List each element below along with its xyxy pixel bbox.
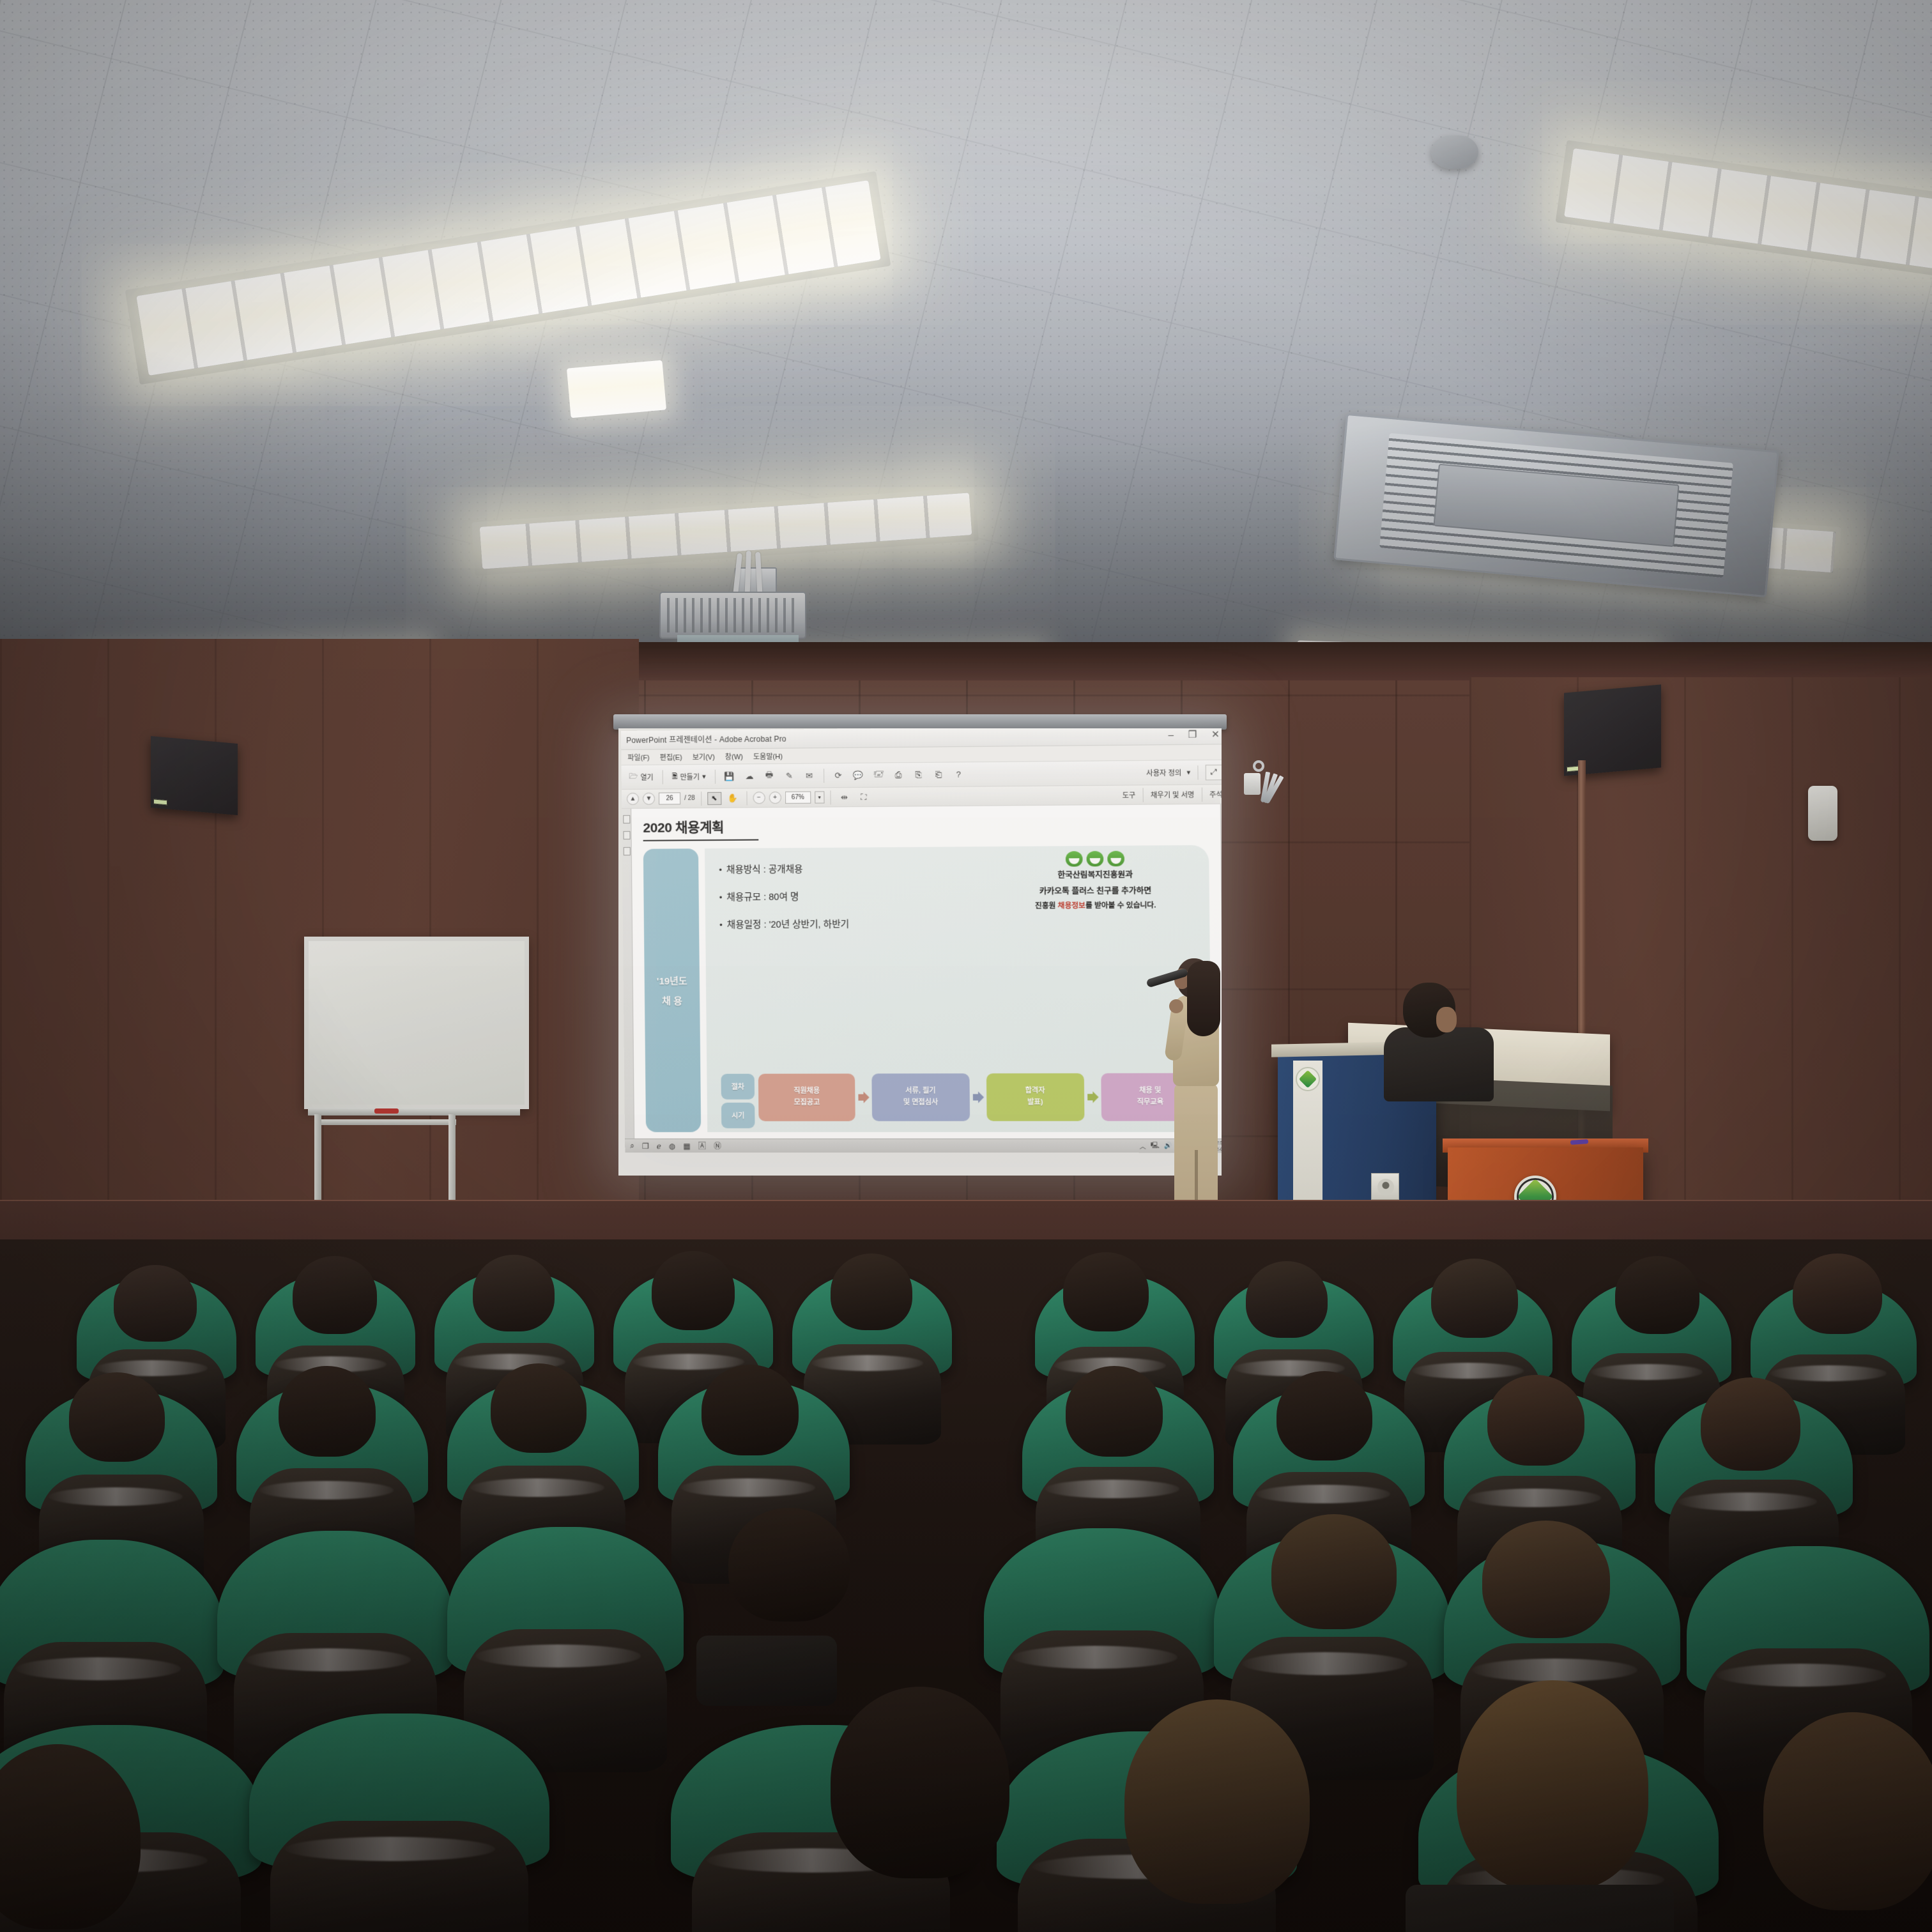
save-icon[interactable]: 💾 (722, 769, 737, 783)
audience-head (293, 1256, 377, 1334)
projection-screen-housing (613, 714, 1227, 730)
slide-bullet-3: • 채용일정 : '20년 상반기, 하반기 (719, 915, 1198, 931)
audience-head (1276, 1371, 1372, 1460)
draped-coat (1406, 1885, 1674, 1932)
audience-head (1063, 1252, 1149, 1331)
audience-seating (0, 1239, 1932, 1932)
close-button[interactable]: ✕ (1211, 730, 1220, 739)
kakao-line-2: 카카오톡 플러스 친구를 추가하면 (991, 884, 1200, 897)
menu-item-window[interactable]: 창(W) (725, 751, 743, 762)
flow-step-2-line-2: 및 면접심사 (903, 1099, 939, 1108)
page-total-label: / 28 (684, 795, 695, 802)
audience-head (831, 1687, 1009, 1878)
create-button[interactable]: 🗎 만들기 ▾ (670, 770, 709, 783)
flow-step-2-line-1: 서류, 필기 (905, 1087, 935, 1096)
slide-content-card: 한국산림복지진흥원과 카카오톡 플러스 친구를 추가하면 진흥원 채용정보를 받… (705, 845, 1211, 1132)
fit-width-icon[interactable]: ⇹ (836, 790, 852, 804)
zoom-level-input[interactable]: 67% (785, 792, 811, 804)
page-extract-icon[interactable]: ⎘ (910, 767, 926, 781)
flow-step-list: 직원채용 모집공고 서류, 필기 및 면접심사 (758, 1073, 1200, 1121)
wall-speaker-icon-left (151, 736, 238, 815)
create-label: 만들기 (680, 771, 700, 781)
forest-welfare-emblem-small (1296, 1067, 1320, 1091)
seated-staff-member (1374, 983, 1501, 1098)
page-export-icon[interactable]: ⎗ (931, 767, 947, 781)
chevron-down-icon-zoom[interactable]: ▾ (815, 791, 824, 803)
fit-page-icon[interactable]: ⛶ (856, 790, 871, 804)
slide-bullet-1-text: 채용방식 : 공개채용 (726, 862, 803, 876)
audience-head (473, 1255, 555, 1331)
flow-step-3: 합격자 발표) (986, 1073, 1084, 1121)
page-thumbnails-icon[interactable] (623, 815, 630, 824)
flow-label-column: 절차 시기 (721, 1074, 755, 1128)
side-tab-line-2: 채 용 (662, 993, 682, 1007)
kakao-faces-icon (991, 850, 1200, 867)
minimize-button[interactable]: – (1168, 730, 1174, 740)
bookmarks-icon[interactable] (623, 831, 630, 839)
audience-head (1066, 1366, 1163, 1457)
window-title: PowerPoint 프레젠테이션 - Adobe Acrobat Pro (626, 730, 1168, 746)
page-number-input[interactable]: 26 (659, 792, 680, 804)
tab-tools[interactable]: 도구 (1122, 790, 1135, 800)
audience-head (1431, 1259, 1518, 1338)
audience-head (1457, 1680, 1648, 1891)
slide-body: '19년도 채 용 한국산림복지진흥원과 카카오톡 플러스 친구를 추가하면 (643, 845, 1212, 1132)
chevron-down-icon-customize[interactable]: ▾ (1186, 768, 1190, 776)
audience-head (1763, 1712, 1932, 1910)
draped-coat (696, 1636, 837, 1706)
cloud-upload-icon[interactable]: ☁ (742, 769, 757, 783)
audience-head (491, 1363, 586, 1453)
audience-head (1793, 1253, 1882, 1334)
arrow-right-icon-2 (972, 1091, 983, 1103)
open-label: 열기 (640, 772, 653, 782)
menu-item-help[interactable]: 도움말(H) (753, 751, 783, 761)
window-controls: – ❐ ✕ (1168, 730, 1222, 740)
zoom-out-button[interactable]: − (753, 792, 765, 804)
slide-bullet-3-text: 채용일정 : '20년 상반기, 하반기 (727, 917, 849, 931)
audience-head (1487, 1375, 1584, 1466)
calculator-icon[interactable]: ▦ (683, 1142, 691, 1151)
audience-head (1271, 1514, 1397, 1629)
wall-keys-icon (1243, 760, 1281, 818)
stamp-icon[interactable]: 🖅 (870, 768, 885, 782)
create-pdf-icon: 🗎 (672, 770, 678, 783)
edit-icon[interactable]: ✎ (781, 769, 797, 783)
zoom-in-button[interactable]: + (769, 792, 781, 804)
flow-step-1: 직원채용 모집공고 (758, 1073, 855, 1121)
flow-step-1-line-2: 모집공고 (793, 1099, 820, 1108)
arrow-right-icon-1 (859, 1092, 869, 1103)
flow-label-process: 절차 (721, 1074, 755, 1100)
slide-content: 2020 채용계획 '19년도 채 용 (631, 804, 1222, 1138)
print-icon[interactable]: 🖶 (762, 769, 777, 783)
ceiling (0, 0, 1932, 690)
projection-screen: PowerPoint 프레젠테이션 - Adobe Acrobat Pro – … (618, 728, 1222, 1176)
flow-step-2: 서류, 필기 및 면접심사 (872, 1073, 970, 1121)
menu-item-view[interactable]: 보기(V) (693, 751, 715, 762)
kakao-line-3: 진흥원 채용정보를 받아볼 수 있습니다. (991, 900, 1200, 911)
kakao-line-3-emphasis: 채용정보 (1058, 902, 1085, 910)
task-view-icon[interactable]: ❐ (642, 1142, 649, 1151)
audience-head (701, 1365, 799, 1455)
select-tool-icon[interactable]: ⬉ (707, 792, 721, 804)
slide-bullet-2-text: 채용규모 : 80여 명 (726, 889, 799, 903)
open-button[interactable]: 🗁 열기 (627, 771, 656, 783)
chrome-icon[interactable]: ◍ (669, 1142, 676, 1151)
menu-item-edit[interactable]: 편집(E) (660, 752, 682, 762)
search-icon[interactable]: ⌕ (630, 1141, 634, 1151)
bullet-marker-icon: • (719, 865, 722, 875)
acrobat-window[interactable]: PowerPoint 프레젠테이션 - Adobe Acrobat Pro – … (621, 728, 1222, 1153)
kakao-line-1: 한국산림복지진흥원과 (991, 867, 1200, 880)
tab-comment[interactable]: 주석 (1209, 789, 1222, 799)
flow-label-timing: 시기 (721, 1103, 755, 1128)
power-outlet-icon (1371, 1173, 1399, 1200)
rotate-icon[interactable]: ⟳ (831, 768, 846, 782)
pdf-page-view[interactable]: 2020 채용계획 '19년도 채 용 (631, 804, 1222, 1138)
kakao-line-3-pre: 진흥원 (1035, 902, 1058, 910)
audience-head (728, 1508, 850, 1621)
side-tab-line-1: '19년도 (657, 974, 687, 987)
audience-head (1615, 1256, 1699, 1334)
edge-icon[interactable]: ℯ (657, 1142, 661, 1151)
document-area: 2020 채용계획 '19년도 채 용 (622, 804, 1222, 1138)
audience-head (1701, 1377, 1800, 1471)
arrow-right-icon-3 (1087, 1091, 1098, 1103)
hand-tool-icon[interactable]: ✋ (725, 791, 740, 805)
whiteboard-marker (374, 1108, 399, 1114)
auditorium-scene: PowerPoint 프레젠테이션 - Adobe Acrobat Pro – … (0, 0, 1932, 1932)
slide-side-tab: '19년도 채 용 (643, 848, 701, 1132)
bullet-marker-icon-3: • (719, 920, 723, 930)
chevron-down-icon: ▾ (702, 772, 706, 781)
tab-fill-and-sign[interactable]: 채우기 및 서명 (1151, 789, 1195, 800)
seat[interactable] (249, 1713, 549, 1932)
comment-icon[interactable]: 💬 (850, 768, 866, 782)
recruitment-process-flow: 절차 시기 직원채용 모집공고 (721, 1073, 1199, 1128)
office-icon[interactable]: Ⓝ (714, 1140, 721, 1151)
kakao-line-3-post: 를 받아볼 수 있습니다. (1085, 901, 1156, 910)
kakao-notice: 한국산림복지진흥원과 카카오톡 플러스 친구를 추가하면 진흥원 채용정보를 받… (991, 850, 1200, 911)
email-icon[interactable]: ✉ (801, 769, 816, 783)
customize-label[interactable]: 사용자 정의 (1146, 767, 1181, 778)
folder-open-icon: 🗁 (629, 771, 638, 783)
flow-step-1-line-1: 직원채용 (793, 1087, 820, 1096)
audience-head (831, 1253, 912, 1330)
acrobat-icon[interactable]: 🄰 (698, 1140, 706, 1151)
audience-head (114, 1265, 197, 1342)
slide-title-underline (643, 839, 759, 841)
audience-head (279, 1366, 376, 1457)
help-icon[interactable]: ? (951, 767, 967, 781)
audience-head (69, 1372, 165, 1462)
chevron-up-icon[interactable]: ︿ (1139, 1141, 1146, 1151)
audience-head (1124, 1699, 1310, 1904)
expand-icon[interactable]: ⤢ (1206, 764, 1222, 780)
audience-head (652, 1251, 735, 1330)
next-page-button[interactable]: ▼ (643, 793, 655, 805)
slide-title: 2020 채용계획 (643, 813, 1209, 837)
menu-item-file[interactable]: 파일(F) (627, 752, 649, 762)
bullet-marker-icon-2: • (719, 893, 723, 902)
audience-head (1246, 1261, 1328, 1338)
attachments-icon[interactable] (623, 847, 630, 855)
audience-head (1482, 1521, 1610, 1638)
page-add-icon[interactable]: ⎙ (891, 768, 907, 782)
wall-sensor-icon (1808, 786, 1837, 841)
prev-page-button[interactable]: ▲ (627, 793, 639, 805)
maximize-button[interactable]: ❐ (1188, 730, 1197, 739)
flow-step-3-line-1: 합격자 (1025, 1087, 1045, 1096)
windows-taskbar: ⌕ ❐ ℯ ◍ ▦ 🄰 Ⓝ ︿ 🖳 🔊 ◓ ▤ 오후 2:54 2019-12-… (625, 1138, 1222, 1153)
flow-step-3-line-2: 발표) (1027, 1098, 1043, 1107)
